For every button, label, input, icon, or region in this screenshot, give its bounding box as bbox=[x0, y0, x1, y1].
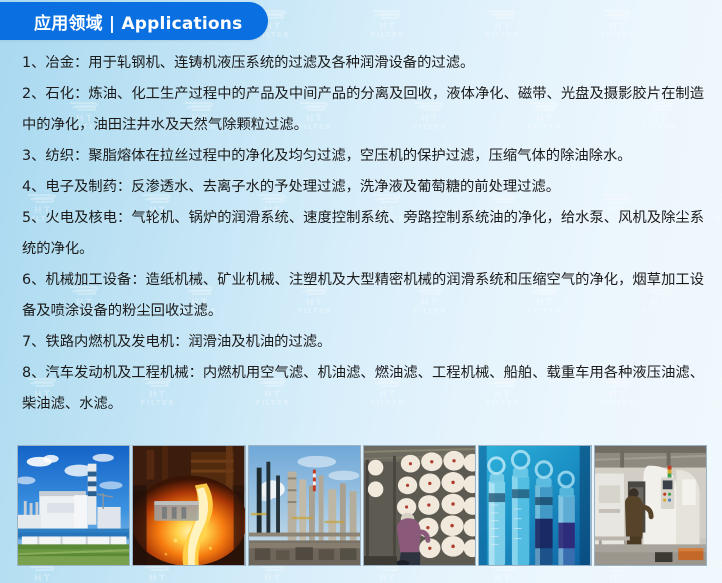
application-item: 1、冶金：用于轧钢机、连铸机液压系统的过滤及各种润滑设备的过滤。 bbox=[22, 48, 704, 79]
watermark-filter: FILTER bbox=[581, 32, 655, 39]
watermark-ht: HT bbox=[466, 575, 540, 583]
ht-swoosh-icon bbox=[351, 8, 425, 21]
ht-swoosh-icon bbox=[466, 8, 540, 21]
textile-spools-photo bbox=[363, 445, 476, 566]
ht-swoosh-icon bbox=[696, 8, 722, 21]
watermark-ht: HT bbox=[236, 575, 310, 583]
watermark-ht: HT bbox=[581, 575, 655, 583]
application-item: 5、火电及核电：气轮机、锅炉的润滑系统、速度控制系统、旁路控制系统油的净化，给水… bbox=[22, 203, 704, 265]
watermark-ht: HT bbox=[466, 23, 540, 32]
refinery-photo bbox=[248, 445, 361, 566]
application-item: 7、铁路内燃机及发电机：润滑油及机油的过滤。 bbox=[22, 327, 704, 358]
lab-glassware-photo bbox=[478, 445, 591, 566]
applications-list: 1、冶金：用于轧钢机、连铸机液压系统的过滤及各种润滑设备的过滤。 2、石化：炼油… bbox=[0, 48, 722, 420]
watermark-ht: HT bbox=[121, 575, 195, 583]
watermark-tile: HTFILTER bbox=[351, 8, 425, 39]
watermark-filter: FILTER bbox=[696, 32, 722, 39]
section-header-pill: 应用领域 | Applications bbox=[0, 2, 268, 40]
watermark-filter: FILTER bbox=[466, 32, 540, 39]
application-item: 2、石化：炼油、化工生产过程中的产品及中间产品的分离及回收，液体净化、磁带、光盘… bbox=[22, 79, 704, 141]
watermark-ht: HT bbox=[6, 575, 80, 583]
watermark-tile: HTFILTER bbox=[466, 8, 540, 39]
application-item: 6、机械加工设备：造纸机械、矿业机械、注塑机及大型精密机械的润滑系统和压缩空气的… bbox=[22, 265, 704, 327]
page-title: 应用领域 | Applications bbox=[34, 9, 242, 34]
watermark-ht: HT bbox=[351, 23, 425, 32]
watermark-filter: FILTER bbox=[351, 32, 425, 39]
watermark-ht: HT bbox=[696, 23, 722, 32]
application-item: 3、纺织：聚脂熔体在拉丝过程中的净化及均匀过滤，空压机的保护过滤，压缩气体的除油… bbox=[22, 141, 704, 172]
watermark-tile: HTFILTER bbox=[581, 8, 655, 39]
watermark-ht: HT bbox=[351, 575, 425, 583]
application-item: 8、汽车发动机及工程机械：内燃机用空气滤、机油滤、燃油滤、工程机械、船舶、载重车… bbox=[22, 358, 704, 420]
watermark-ht: HT bbox=[581, 23, 655, 32]
cnc-machine-photo bbox=[594, 445, 707, 566]
application-photo-strip bbox=[17, 445, 707, 566]
steel-furnace-photo bbox=[132, 445, 245, 566]
ht-swoosh-icon bbox=[581, 8, 655, 21]
application-item: 4、电子及制药：反渗透水、去离子水的予处理过滤，洗净液及葡萄糖的前处理过滤。 bbox=[22, 172, 704, 203]
watermark-tile: HTFILTER bbox=[696, 8, 722, 39]
power-plant-photo bbox=[17, 445, 130, 566]
watermark-ht: HT bbox=[696, 575, 722, 583]
